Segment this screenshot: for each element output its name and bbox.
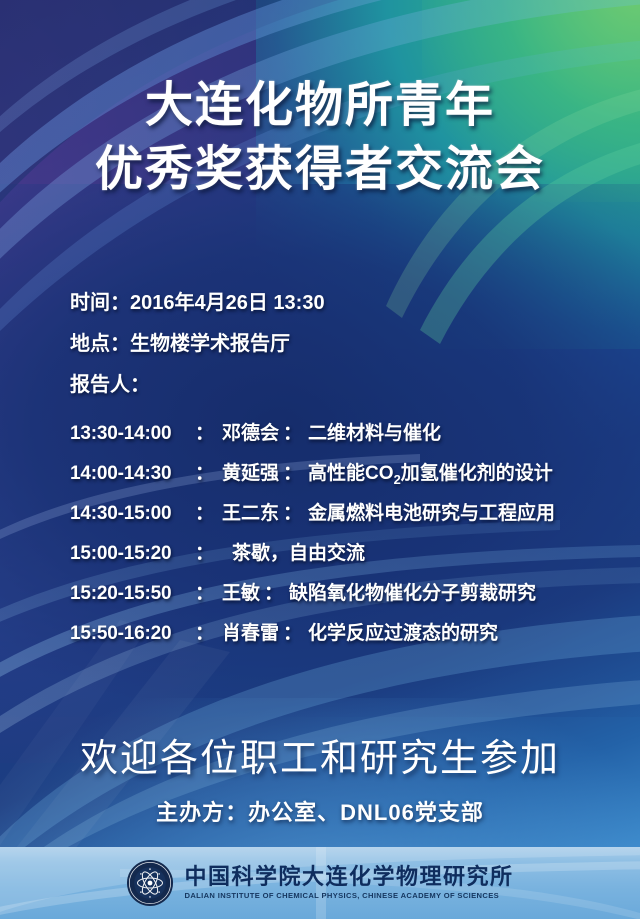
schedule-time: 15:00-15:20 (70, 543, 195, 565)
schedule-separator: ： (283, 498, 302, 525)
schedule-time-colon: ： (195, 418, 214, 445)
event-meta: 时间：2016年4月26日 13:30 地点：生物楼学术报告厅 报告人： (70, 283, 325, 406)
footer-logo-group: 中国科学院大连化学物理研究所 DALIAN INSTITUTE OF CHEMI… (0, 847, 640, 919)
schedule-time-colon: ： (195, 618, 214, 645)
meta-label-speakers: 报告人： (70, 374, 150, 396)
atom-seal-icon (126, 859, 174, 907)
meta-label-time: 时间： (70, 292, 130, 314)
schedule-time: 15:50-16:20 (70, 623, 195, 645)
schedule-separator: ： (264, 578, 283, 605)
schedule-topic: 高性能CO2加氢催化剂的设计 (308, 458, 553, 487)
schedule-speaker: 肖春雷 (222, 618, 279, 645)
schedule-row: 15:20-15:50：王敏：缺陷氧化物催化分子剪裁研究 (70, 578, 555, 618)
schedule-speaker: 黄延强 (222, 458, 279, 485)
schedule-topic: 二维材料与催化 (308, 418, 441, 447)
institute-name-en: DALIAN INSTITUTE OF CHEMICAL PHYSICS, CH… (184, 892, 513, 900)
meta-row-speakers: 报告人： (70, 365, 325, 406)
meta-value-location: 生物楼学术报告厅 (130, 333, 290, 355)
schedule-time: 14:30-15:00 (70, 503, 195, 525)
institute-name-cn: 中国科学院大连化学物理研究所 (184, 866, 513, 888)
schedule-row: 15:50-16:20：肖春雷：化学反应过渡态的研究 (70, 618, 555, 658)
meta-row-time: 时间：2016年4月26日 13:30 (70, 283, 325, 324)
schedule-row: 15:00-15:20：茶歇，自由交流 (70, 538, 555, 578)
schedule-topic: 化学反应过渡态的研究 (308, 618, 498, 647)
schedule-topic-pre: 二维材料与催化 (308, 423, 441, 444)
schedule-topic: 茶歇，自由交流 (232, 538, 365, 567)
title-line-1: 大连化物所青年 (0, 74, 640, 138)
schedule-separator: ： (283, 418, 302, 445)
meta-value-time: 2016年4月26日 13:30 (130, 292, 325, 314)
schedule-speaker: 王敏 (222, 578, 260, 605)
meta-label-location: 地点： (70, 333, 130, 355)
schedule-list: 13:30-14:00：邓德会：二维材料与催化 14:00-14:30：黄延强：… (70, 418, 555, 658)
schedule-topic-pre: 茶歇，自由交流 (232, 543, 365, 564)
schedule-time: 13:30-14:00 (70, 423, 195, 445)
poster-content: 大连化物所青年 优秀奖获得者交流会 时间：2016年4月26日 13:30 地点… (0, 0, 640, 919)
schedule-row: 14:00-14:30：黄延强：高性能CO2加氢催化剂的设计 (70, 458, 555, 498)
poster-root: 大连化物所青年 优秀奖获得者交流会 时间：2016年4月26日 13:30 地点… (0, 0, 640, 919)
meta-row-location: 地点：生物楼学术报告厅 (70, 324, 325, 365)
schedule-time: 15:20-15:50 (70, 583, 195, 605)
schedule-separator: ： (283, 618, 302, 645)
schedule-topic-sub: 2 (394, 472, 401, 487)
schedule-time-colon: ： (195, 458, 214, 485)
schedule-speaker: 王二东 (222, 498, 279, 525)
schedule-separator: ： (283, 458, 302, 485)
footer-logo-bar: 中国科学院大连化学物理研究所 DALIAN INSTITUTE OF CHEMI… (0, 847, 640, 919)
schedule-row: 14:30-15:00：王二东：金属燃料电池研究与工程应用 (70, 498, 555, 538)
schedule-topic: 金属燃料电池研究与工程应用 (308, 498, 555, 527)
institute-logo-text: 中国科学院大连化学物理研究所 DALIAN INSTITUTE OF CHEMI… (184, 866, 513, 900)
welcome-message: 欢迎各位职工和研究生参加 (0, 727, 640, 782)
schedule-topic-pre: 化学反应过渡态的研究 (308, 623, 498, 644)
schedule-time-colon: ： (195, 498, 214, 525)
page-title: 大连化物所青年 优秀奖获得者交流会 (0, 74, 640, 203)
schedule-row: 13:30-14:00：邓德会：二维材料与催化 (70, 418, 555, 458)
schedule-speaker: 邓德会 (222, 418, 279, 445)
schedule-topic-pre: 高性能CO (308, 463, 394, 484)
schedule-topic-pre: 缺陷氧化物催化分子剪裁研究 (289, 583, 536, 604)
schedule-topic: 缺陷氧化物催化分子剪裁研究 (289, 578, 536, 607)
schedule-time-colon: ： (195, 578, 214, 605)
schedule-time-colon: ： (195, 538, 214, 565)
schedule-time: 14:00-14:30 (70, 463, 195, 485)
title-line-2: 优秀奖获得者交流会 (0, 138, 640, 202)
organizer-line: 主办方：办公室、DNL06党支部 (0, 795, 640, 827)
schedule-topic-pre: 金属燃料电池研究与工程应用 (308, 503, 555, 524)
schedule-topic-post: 加氢催化剂的设计 (401, 463, 553, 484)
